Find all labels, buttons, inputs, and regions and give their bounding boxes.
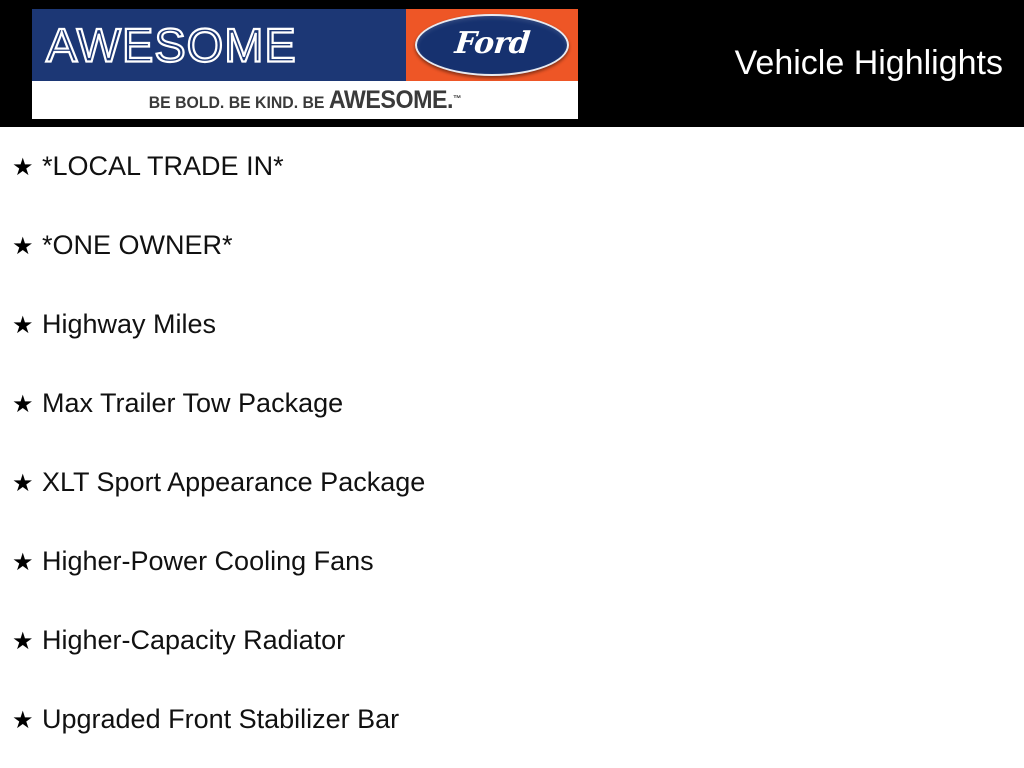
page-title: Vehicle Highlights (735, 46, 1003, 80)
star-icon: ★ (12, 234, 42, 258)
star-icon: ★ (12, 155, 42, 179)
list-item: ★ Higher-Capacity Radiator (0, 601, 1024, 680)
list-item: ★ *ONE OWNER* (0, 206, 1024, 285)
list-item-label: Higher-Power Cooling Fans (42, 548, 374, 575)
logo-ford-panel: Ford (406, 9, 578, 81)
star-icon: ★ (12, 313, 42, 337)
star-icon: ★ (12, 471, 42, 495)
list-item-label: *LOCAL TRADE IN* (42, 153, 284, 180)
logo-top-row: AWESOME Ford (32, 9, 578, 81)
logo-tagline-row: BE BOLD. BE KIND. BE AWESOME.™ (32, 81, 578, 119)
list-item: ★ Higher-Power Cooling Fans (0, 522, 1024, 601)
trademark-symbol: ™ (453, 93, 461, 103)
tagline-brand-text: AWESOME. (329, 86, 453, 114)
list-item-label: Higher-Capacity Radiator (42, 627, 345, 654)
list-item: ★ Max Trailer Tow Package (0, 364, 1024, 443)
header-bar: AWESOME Ford BE BOLD. BE KIND. BE AWESOM… (0, 0, 1024, 127)
list-item-label: XLT Sport Appearance Package (42, 469, 425, 496)
list-item: ★ *LOCAL TRADE IN* (0, 127, 1024, 206)
ford-wordmark-text: Ford (453, 29, 531, 59)
list-item-label: Highway Miles (42, 311, 216, 338)
list-item: ★ XLT Sport Appearance Package (0, 443, 1024, 522)
tagline-prefix-text: BE BOLD. BE KIND. BE (149, 93, 329, 112)
ford-oval-logo: Ford (415, 14, 569, 76)
list-item: ★ Highway Miles (0, 285, 1024, 364)
list-item-label: *ONE OWNER* (42, 232, 233, 259)
list-item: ★ Upgraded Front Stabilizer Bar (0, 680, 1024, 759)
logo-wordmark-text: AWESOME (46, 22, 297, 69)
vehicle-highlights-list: ★ *LOCAL TRADE IN* ★ *ONE OWNER* ★ Highw… (0, 127, 1024, 759)
star-icon: ★ (12, 550, 42, 574)
list-item-label: Max Trailer Tow Package (42, 390, 343, 417)
logo-tagline: BE BOLD. BE KIND. BE AWESOME.™ (149, 88, 462, 113)
dealer-logo: AWESOME Ford BE BOLD. BE KIND. BE AWESOM… (32, 9, 578, 119)
logo-wordmark-panel: AWESOME (32, 9, 406, 81)
star-icon: ★ (12, 708, 42, 732)
star-icon: ★ (12, 629, 42, 653)
star-icon: ★ (12, 392, 42, 416)
list-item-label: Upgraded Front Stabilizer Bar (42, 706, 399, 733)
